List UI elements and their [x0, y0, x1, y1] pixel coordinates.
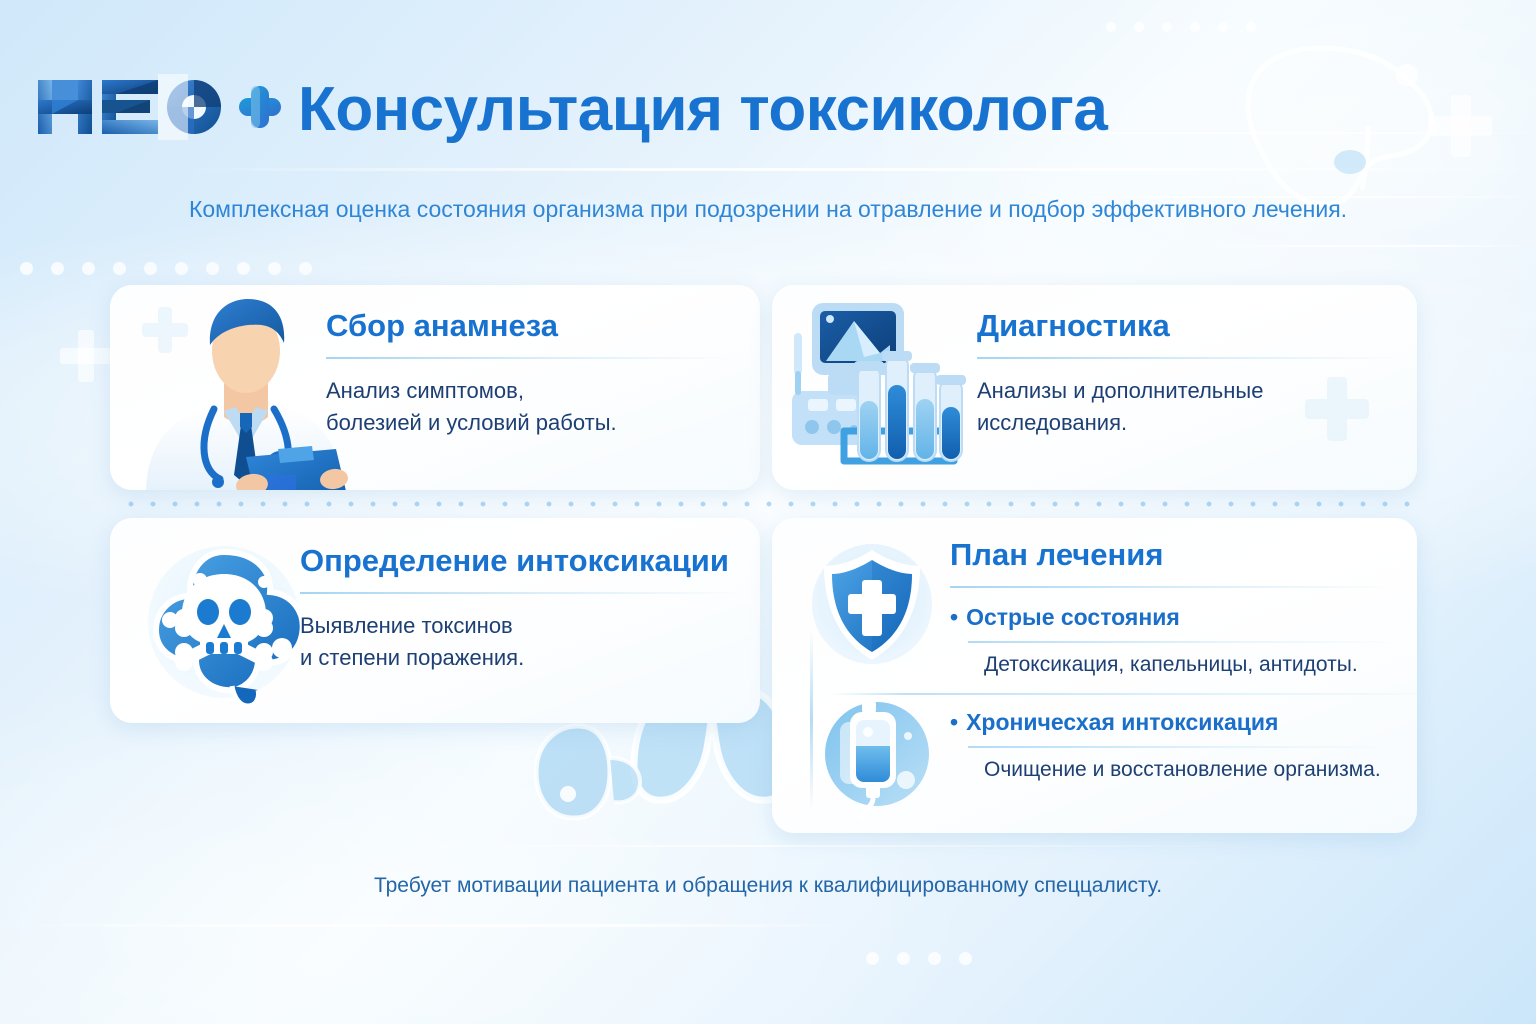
card-grid: Сбор анамнеза Анализ симптомов, болезией… — [0, 0, 1536, 1024]
plan-item-divider — [968, 641, 1400, 643]
card-description-line: Выявление токсинов — [300, 610, 740, 642]
card-description-line: Анализ симптомов, — [326, 375, 730, 407]
plan-item-list: •Острые состояния Детоксикация, капельни… — [950, 604, 1400, 782]
plan-item-heading-text: Хроничесхая интоксикация — [966, 709, 1278, 735]
title-divider — [950, 586, 1400, 588]
card-description-line: Анализы и дополнительные — [977, 375, 1397, 407]
plan-item-acute[interactable]: •Острые состояния Детоксикация, капельни… — [950, 604, 1400, 677]
card-description: Анализ симптомов, болезией и условий раб… — [326, 375, 730, 439]
doctor-with-clipboard-icon — [128, 285, 358, 490]
card-title: План лечения — [950, 538, 1400, 572]
lab-analyzer-test-tubes-icon — [786, 295, 981, 475]
footer-note: Требует мотивации пациента и обращения к… — [0, 874, 1536, 898]
card-description: Анализы и дополнительные исследования. — [977, 375, 1397, 439]
title-divider — [977, 357, 1397, 359]
card-anamnesis[interactable]: Сбор анамнеза Анализ симптомов, болезией… — [110, 285, 760, 490]
plan-section-divider — [830, 693, 1417, 695]
card-description-line: болезией и условий работы. — [326, 407, 730, 439]
title-divider — [326, 357, 730, 359]
bullet-icon: • — [950, 709, 958, 735]
card-treatment-plan[interactable]: План лечения •Острые состояния Детоксика… — [772, 518, 1417, 833]
bullet-icon: • — [950, 604, 958, 630]
skull-and-crossbones-toxic-icon — [136, 536, 316, 711]
card-diagnostics[interactable]: Диагностика Анализы и дополнительные исс… — [772, 285, 1417, 490]
plan-item-description: Очищение и восстановление организма. — [984, 758, 1400, 782]
card-title: Сбор анамнеза — [326, 309, 730, 343]
shield-cross-icon — [808, 540, 936, 672]
card-intoxication[interactable]: Определение интоксикации Выявление токси… — [110, 518, 760, 723]
card-description-line: исследования. — [977, 407, 1397, 439]
plan-item-heading: •Острые состояния — [950, 604, 1400, 631]
card-description-line: и степени поражения. — [300, 642, 740, 674]
plan-item-chronic[interactable]: •Хроничесхая интоксикация Очищение и вос… — [950, 709, 1400, 782]
card-title: Определение интоксикации — [300, 544, 740, 578]
title-divider — [300, 592, 740, 594]
plan-item-divider — [968, 746, 1400, 748]
plan-item-description: Детоксикация, капельницы, антидоты. — [984, 653, 1400, 677]
card-description: Выявление токсинов и степени поражения. — [300, 610, 740, 674]
plan-item-heading-text: Острые состояния — [966, 604, 1180, 630]
card-title: Диагностика — [977, 309, 1397, 343]
infographic-poster: Консультация токсиколога Комплексная оце… — [0, 0, 1536, 1024]
iv-drip-bag-icon — [818, 696, 936, 820]
plan-item-heading: •Хроничесхая интоксикация — [950, 709, 1400, 736]
